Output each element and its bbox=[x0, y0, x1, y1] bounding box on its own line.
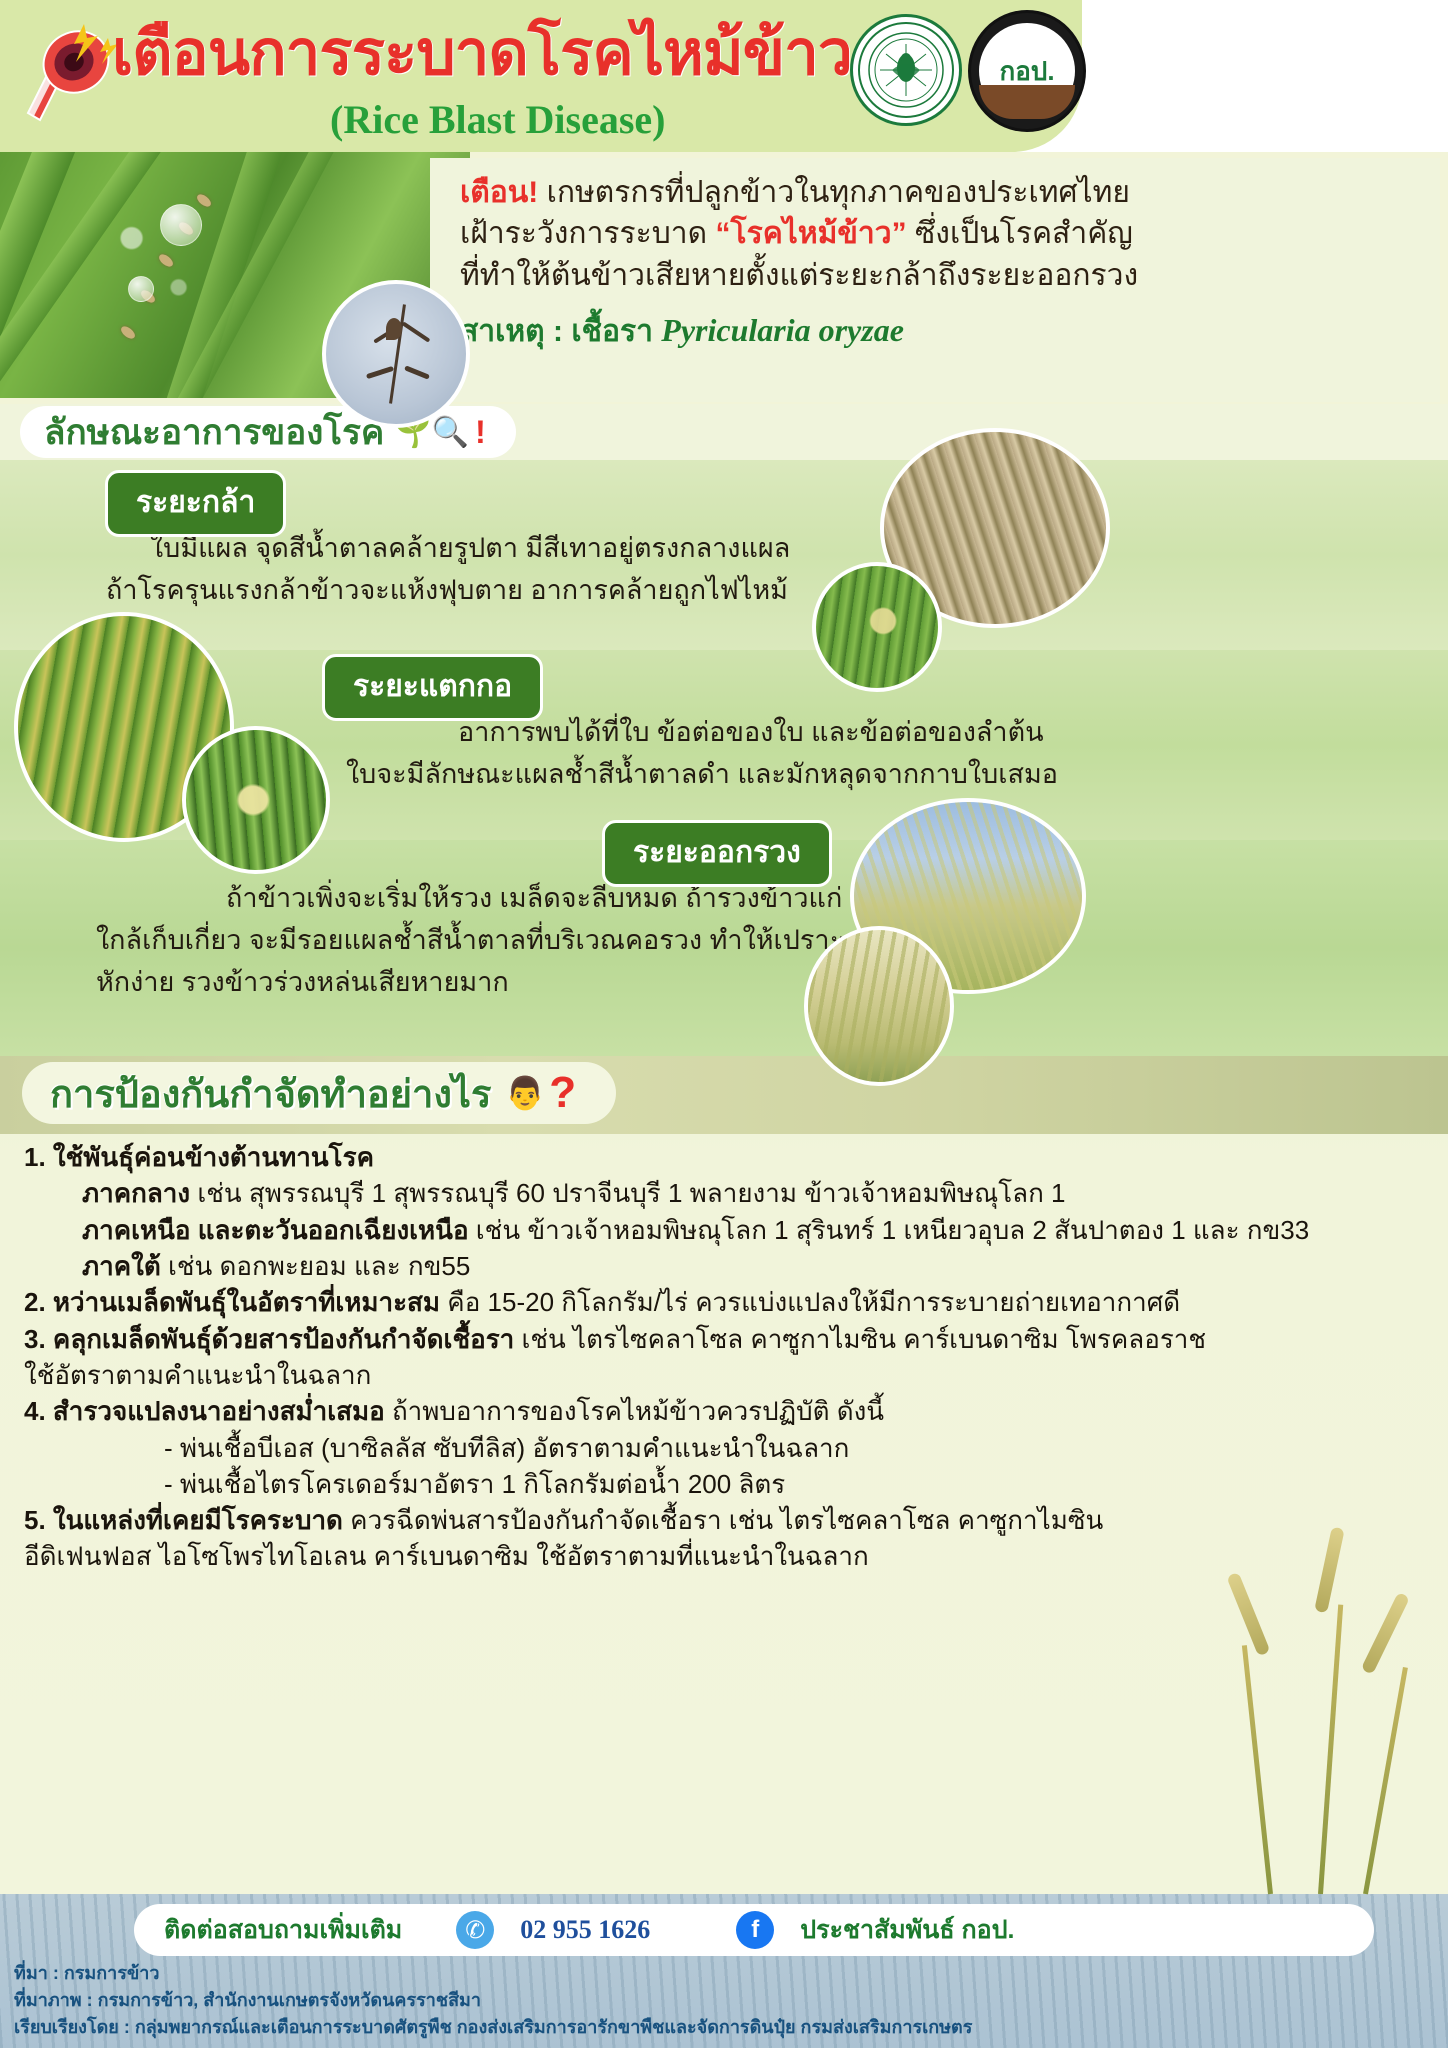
item-rest: เช่น ดอกพะยอม และ กข55 bbox=[161, 1251, 471, 1281]
hero-warning-text: เตือน! เกษตรกรที่ปลูกข้าวในทุกภาคของประเ… bbox=[430, 158, 1440, 402]
prevention-item: ภาคกลาง เช่น สุพรรณบุรี 1 สุพรรณบุรี 60 … bbox=[24, 1176, 1424, 1210]
prevention-list: 1. ใช้พันธุ์ค่อนข้างต้านทานโรค ภาคกลาง เ… bbox=[0, 1140, 1448, 1576]
photo-leaf-lesion-1 bbox=[812, 562, 942, 692]
prevention-item: 2. หว่านเมล็ดพันธุ์ในอัตราที่เหมาะสม คือ… bbox=[24, 1285, 1424, 1319]
prevention-item: 3. คลุกเมล็ดพันธุ์ด้วยสารป้องกันกำจัดเชื… bbox=[24, 1322, 1424, 1356]
disease-name-highlight: “โรคไหม้ข้าว” bbox=[715, 217, 906, 250]
credits-block: ที่มา : กรมการข้าว ที่มาภาพ : กรมการข้าว… bbox=[14, 1960, 972, 2041]
item-bold: ใช้พันธุ์ค่อนข้างต้านทานโรค bbox=[53, 1142, 374, 1172]
symptoms-banner: ลักษณะอาการของโรค 🌱🔍 ! bbox=[0, 404, 1448, 460]
item-bold: ในแหล่งที่เคยมีโรคระบาด bbox=[53, 1505, 343, 1535]
item-bold: ภาคเหนือ และตะวันออกเฉียงเหนือ bbox=[82, 1215, 469, 1245]
item-rest: - พ่นเชื้อไตรโครเดอร์มาอัตรา 1 กิโลกรัมต… bbox=[164, 1469, 785, 1499]
exclaim-mark: ! bbox=[475, 414, 486, 451]
item-rest: อีดิเฟนฟอส ไอโซโพรไทโอเลน คาร์เบนดาซิม ใ… bbox=[24, 1541, 869, 1571]
item-num: 3. bbox=[24, 1324, 53, 1354]
stage-text-tillering-line2: ใบจะมีลักษณะแผลช้ำสีน้ำตาลดำ และมักหลุดจ… bbox=[346, 754, 1058, 795]
stage-block-tillering: ระยะแตกกอ อาการพบได้ที่ใบ ข้อต่อของใบ แล… bbox=[0, 650, 1448, 840]
warning-rest: เกษตรกรที่ปลูกข้าวในทุกภาคของประเทศไทย bbox=[538, 176, 1130, 209]
item-num: 5. bbox=[24, 1505, 53, 1535]
item-rest: - พ่นเชื้อบีเอส (บาซิลลัส ซับทีลิส) อัตร… bbox=[164, 1433, 849, 1463]
item-num: 1. bbox=[24, 1142, 53, 1172]
stage-text-heading-line3: หักง่าย รวงข้าวร่วงหล่นเสียหายมาก bbox=[96, 962, 509, 1003]
item-bold: สำรวจแปลงนาอย่างสม่ำเสมอ bbox=[53, 1396, 385, 1426]
cause-line: สาเหตุ : เชื้อรา Pyricularia oryzae bbox=[460, 308, 1420, 355]
cause-label: สาเหตุ : เชื้อรา bbox=[460, 315, 661, 348]
facebook-icon[interactable]: f bbox=[736, 1911, 774, 1949]
phone-number[interactable]: 02 955 1626 bbox=[520, 1915, 650, 1945]
hero-line-3: ที่ทำให้ต้นข้าวเสียหายตั้งแต่ระยะกล้าถึง… bbox=[460, 255, 1420, 296]
header: เตือนการระบาดโรคไหม้ข้าว (Rice Blast Dis… bbox=[0, 0, 1448, 152]
symptoms-pill: ลักษณะอาการของโรค 🌱🔍 ! bbox=[20, 406, 516, 458]
stage-label-heading: ระยะออกรวง bbox=[602, 820, 832, 887]
poster-root: เตือนการระบาดโรคไหม้ข้าว (Rice Blast Dis… bbox=[0, 0, 1448, 2048]
hero-section: เตือน! เกษตรกรที่ปลูกข้าวในทุกภาคของประเ… bbox=[0, 152, 1448, 408]
kop-logo-label: กอป. bbox=[999, 51, 1054, 92]
stage-label-tillering: ระยะแตกกอ bbox=[322, 654, 543, 721]
contact-label: ติดต่อสอบถามเพิ่มเติม bbox=[164, 1910, 402, 1950]
thinking-boy-icon: 👨 bbox=[505, 1074, 545, 1112]
page-subtitle: (Rice Blast Disease) bbox=[330, 96, 665, 143]
footer: ติดต่อสอบถามเพิ่มเติม ✆ 02 955 1626 f ปร… bbox=[0, 1894, 1448, 2048]
prevention-title: การป้องกันกำจัดทำอย่างไร bbox=[50, 1063, 491, 1124]
stage-block-seedling: ระยะกล้า ใบมีแผล จุดสีน้ำตาลคล้ายรูปตา ม… bbox=[0, 460, 1448, 650]
prevention-item: ภาคใต้ เช่น ดอกพะยอม และ กข55 bbox=[24, 1249, 1424, 1283]
warning-prefix: เตือน! bbox=[460, 176, 538, 209]
item-bold: ภาคกลาง bbox=[82, 1178, 190, 1208]
question-mark-icon: ? bbox=[549, 1068, 576, 1118]
item-num: 2. bbox=[24, 1287, 53, 1317]
hero-line-2: เฝ้าระวังการระบาด “โรคไหม้ข้าว” ซึ่งเป็น… bbox=[460, 213, 1420, 254]
item-rest: คือ 15-20 กิโลกรัม/ไร่ ควรแบ่งแปลงให้มีก… bbox=[440, 1287, 1180, 1317]
item-bold: หว่านเมล็ดพันธุ์ในอัตราที่เหมาะสม bbox=[53, 1287, 440, 1317]
kop-logo: กอป. bbox=[968, 10, 1086, 132]
item-rest: ถ้าพบอาการของโรคไหม้ข้าวควรปฏิบัติ ดังนี… bbox=[385, 1396, 884, 1426]
stage-label-seedling: ระยะกล้า bbox=[105, 470, 286, 537]
credit-compiled-by: เรียบเรียงโดย : กลุ่มพยากรณ์และเตือนการร… bbox=[14, 2014, 972, 2041]
item-rest: เช่น ข้าวเจ้าหอมพิษณุโลก 1 สุรินทร์ 1 เห… bbox=[469, 1215, 1310, 1245]
prevention-item: 1. ใช้พันธุ์ค่อนข้างต้านทานโรค bbox=[24, 1140, 1424, 1174]
item-rest: ใช้อัตราตามคำแนะนำในฉลาก bbox=[24, 1360, 371, 1390]
prevention-item: ใช้อัตราตามคำแนะนำในฉลาก bbox=[24, 1358, 1424, 1392]
prevention-item: - พ่นเชื้อบีเอส (บาซิลลัส ซับทีลิส) อัตร… bbox=[24, 1431, 1424, 1465]
prevention-item: ภาคเหนือ และตะวันออกเฉียงเหนือ เช่น ข้าว… bbox=[24, 1213, 1424, 1247]
megaphone-icon bbox=[18, 18, 123, 128]
stage-block-heading: ระยะออกรวง ถ้าข้าวเพิ่งจะเริ่มให้รวง เมล… bbox=[0, 840, 1448, 1056]
pathogen-scientific-name: Pyricularia oryzae bbox=[661, 312, 904, 348]
hero-line-2b: ซึ่งเป็นโรคสำคัญ bbox=[907, 217, 1133, 250]
garuda-emblem-icon bbox=[866, 30, 946, 110]
item-rest: เช่น สุพรรณบุรี 1 สุพรรณบุรี 60 ปราจีนบุ… bbox=[190, 1178, 1065, 1208]
contact-bar: ติดต่อสอบถามเพิ่มเติม ✆ 02 955 1626 f ปร… bbox=[134, 1904, 1374, 1956]
item-rest: เช่น ไตรไซคลาโซล คาซูกาไมซิน คาร์เบนดาซิ… bbox=[514, 1324, 1206, 1354]
spore-microscope-photo bbox=[322, 280, 470, 428]
item-bold: คลุกเมล็ดพันธุ์ด้วยสารป้องกันกำจัดเชื้อร… bbox=[53, 1324, 514, 1354]
prevention-item: - พ่นเชื้อไตรโครเดอร์มาอัตรา 1 กิโลกรัมต… bbox=[24, 1467, 1424, 1501]
photo-panicle-neck-blast bbox=[804, 926, 954, 1086]
prevention-item: 5. ในแหล่งที่เคยมีโรคระบาด ควรฉีดพ่นสารป… bbox=[24, 1503, 1424, 1537]
rice-decoration bbox=[1148, 1564, 1448, 1894]
stage-text-seedling-line2: ถ้าโรครุนแรงกล้าข้าวจะแห้งฟุบตาย อาการคล… bbox=[106, 570, 788, 611]
photo-leaf-lesion-2 bbox=[182, 726, 330, 874]
prevention-pill: การป้องกันกำจัดทำอย่างไร 👨 ? bbox=[22, 1062, 616, 1124]
prevention-item: 4. สำรวจแปลงนาอย่างสม่ำเสมอ ถ้าพบอาการขอ… bbox=[24, 1394, 1424, 1428]
symptoms-title: ลักษณะอาการของโรค bbox=[44, 405, 384, 460]
facebook-page-name[interactable]: ประชาสัมพันธ์ กอป. bbox=[800, 1910, 1014, 1950]
department-logo bbox=[850, 14, 962, 126]
hero-line-2a: เฝ้าระวังการระบาด bbox=[460, 217, 715, 250]
page-title: เตือนการระบาดโรคไหม้ข้าว bbox=[112, 18, 912, 89]
item-bold: ภาคใต้ bbox=[82, 1251, 161, 1281]
stage-text-heading-line2: ใกล้เก็บเกี่ยว จะมีรอยแผลช้ำสีน้ำตาลที่บ… bbox=[96, 920, 844, 961]
prevention-item: อีดิเฟนฟอส ไอโซโพรไทโอเลน คาร์เบนดาซิม ใ… bbox=[24, 1539, 1424, 1573]
credit-source: ที่มา : กรมการข้าว bbox=[14, 1960, 972, 1987]
hero-line-1: เตือน! เกษตรกรที่ปลูกข้าวในทุกภาคของประเ… bbox=[460, 172, 1420, 213]
stage-text-tillering-line1: อาการพบได้ที่ใบ ข้อต่อของใบ และข้อต่อของ… bbox=[458, 712, 1044, 753]
credit-image-source: ที่มาภาพ : กรมการข้าว, สำนักงานเกษตรจังห… bbox=[14, 1987, 972, 2014]
item-rest: ควรฉีดพ่นสารป้องกันกำจัดเชื้อรา เช่น ไตร… bbox=[343, 1505, 1103, 1535]
phone-icon[interactable]: ✆ bbox=[456, 1911, 494, 1949]
item-num: 4. bbox=[24, 1396, 53, 1426]
prevention-section: การป้องกันกำจัดทำอย่างไร 👨 ? 1. ใช้พันธุ… bbox=[0, 1056, 1448, 1894]
